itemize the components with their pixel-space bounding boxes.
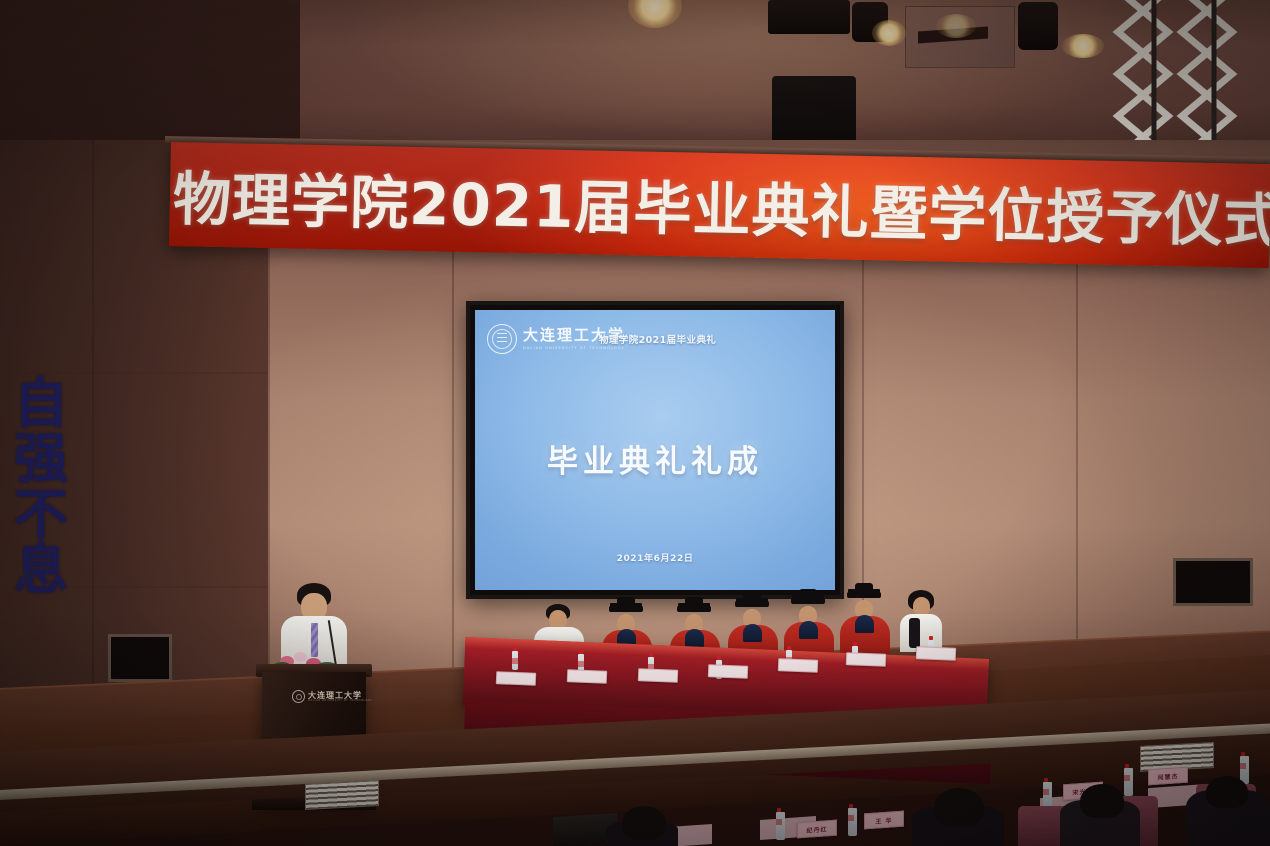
calligraphy-char-1: 自 xyxy=(14,378,68,429)
wall-vent-panel-right xyxy=(1173,558,1253,606)
ceremony-banner: 物理学院2021届毕业典礼暨学位授予仪式 xyxy=(169,142,1270,268)
water-bottle xyxy=(1124,768,1133,796)
podium-emblem-icon xyxy=(292,690,305,703)
podium-logo-english: DALIAN UNIVERSITY OF TECHNOLOGY xyxy=(308,699,372,702)
person-3-hood xyxy=(685,629,704,647)
head-table-nameplate xyxy=(496,671,537,686)
head-table-person-6 xyxy=(838,590,892,656)
wall-seam-3 xyxy=(452,180,454,700)
head-table-person-7 xyxy=(896,590,944,652)
projection-screen: 大连理工大学 DALIAN UNIVERSITY OF TECHNOLOGY 物… xyxy=(475,310,835,590)
water-bottle xyxy=(848,808,857,836)
audience-member-head xyxy=(1206,776,1248,808)
podium-university-logo: 大连理工大学 DALIAN UNIVERSITY OF TECHNOLOGY xyxy=(292,690,372,703)
head-table-nameplate xyxy=(567,669,608,684)
head-table-nameplate xyxy=(638,668,679,683)
wall-calligraphy: 自 强 不 息 xyxy=(6,378,76,595)
person-3-mortarboard-icon xyxy=(677,606,711,612)
slide-logo-english: DALIAN UNIVERSITY OF TECHNOLOGY xyxy=(523,346,625,350)
slide-date-text: 2021年6月22日 xyxy=(475,551,835,564)
water-bottle xyxy=(512,651,518,670)
spotlight-glow-4 xyxy=(936,14,976,38)
photo-scene: 自 强 不 息 物理学院2021届毕业典礼暨学位授予仪式 大连理工大学 DALI… xyxy=(0,0,1270,846)
projection-screen-frame: 大连理工大学 DALIAN UNIVERSITY OF TECHNOLOGY 物… xyxy=(466,301,844,599)
person-6-hood xyxy=(855,615,874,633)
audience-member-head xyxy=(1080,784,1124,818)
spotlight-housing-1 xyxy=(768,0,850,34)
head-table-nameplate xyxy=(778,658,819,673)
person-5-hood xyxy=(799,621,818,639)
head-table-nameplate xyxy=(916,646,957,661)
audience-member-head xyxy=(934,788,984,826)
wall-vent-panel-left xyxy=(108,634,172,682)
spotlight-housing-3 xyxy=(1018,2,1058,50)
person-5-mortarboard-icon xyxy=(791,598,825,604)
podium-logo-chinese: 大连理工大学 xyxy=(308,691,372,699)
water-bottle xyxy=(776,812,785,840)
slide-header-text: 物理学院2021届毕业典礼 xyxy=(599,332,716,346)
slide-title-text: 毕业典礼礼成 xyxy=(475,436,835,481)
banner-text: 物理学院2021届毕业典礼暨学位授予仪式 xyxy=(172,152,1270,258)
audience-name-card: 王 华 xyxy=(864,811,904,830)
flower-petal xyxy=(294,652,307,662)
calligraphy-char-4: 息 xyxy=(14,544,68,595)
calligraphy-char-3: 不 xyxy=(14,489,68,540)
head-table-nameplate xyxy=(846,652,887,667)
wall-seam-1 xyxy=(92,140,94,700)
audience-name-card: 纪丹红 xyxy=(797,820,837,839)
person-4-hood xyxy=(743,624,762,642)
audience-member-head xyxy=(622,806,666,840)
spotlight-glow-2 xyxy=(872,20,906,46)
head-table-nameplate xyxy=(708,664,749,679)
calligraphy-char-2: 强 xyxy=(14,433,68,484)
university-emblem-icon xyxy=(487,324,517,354)
audience-wall-vent-1 xyxy=(305,780,379,810)
person-6-mortarboard-icon xyxy=(847,592,881,598)
person-2-mortarboard-icon xyxy=(609,606,643,612)
person-4-mortarboard-icon xyxy=(735,601,769,607)
audience-name-card: 闫慧杰 xyxy=(1148,767,1188,786)
spotlight-glow-3 xyxy=(1062,34,1104,58)
ceiling-left-shadow xyxy=(0,0,300,150)
